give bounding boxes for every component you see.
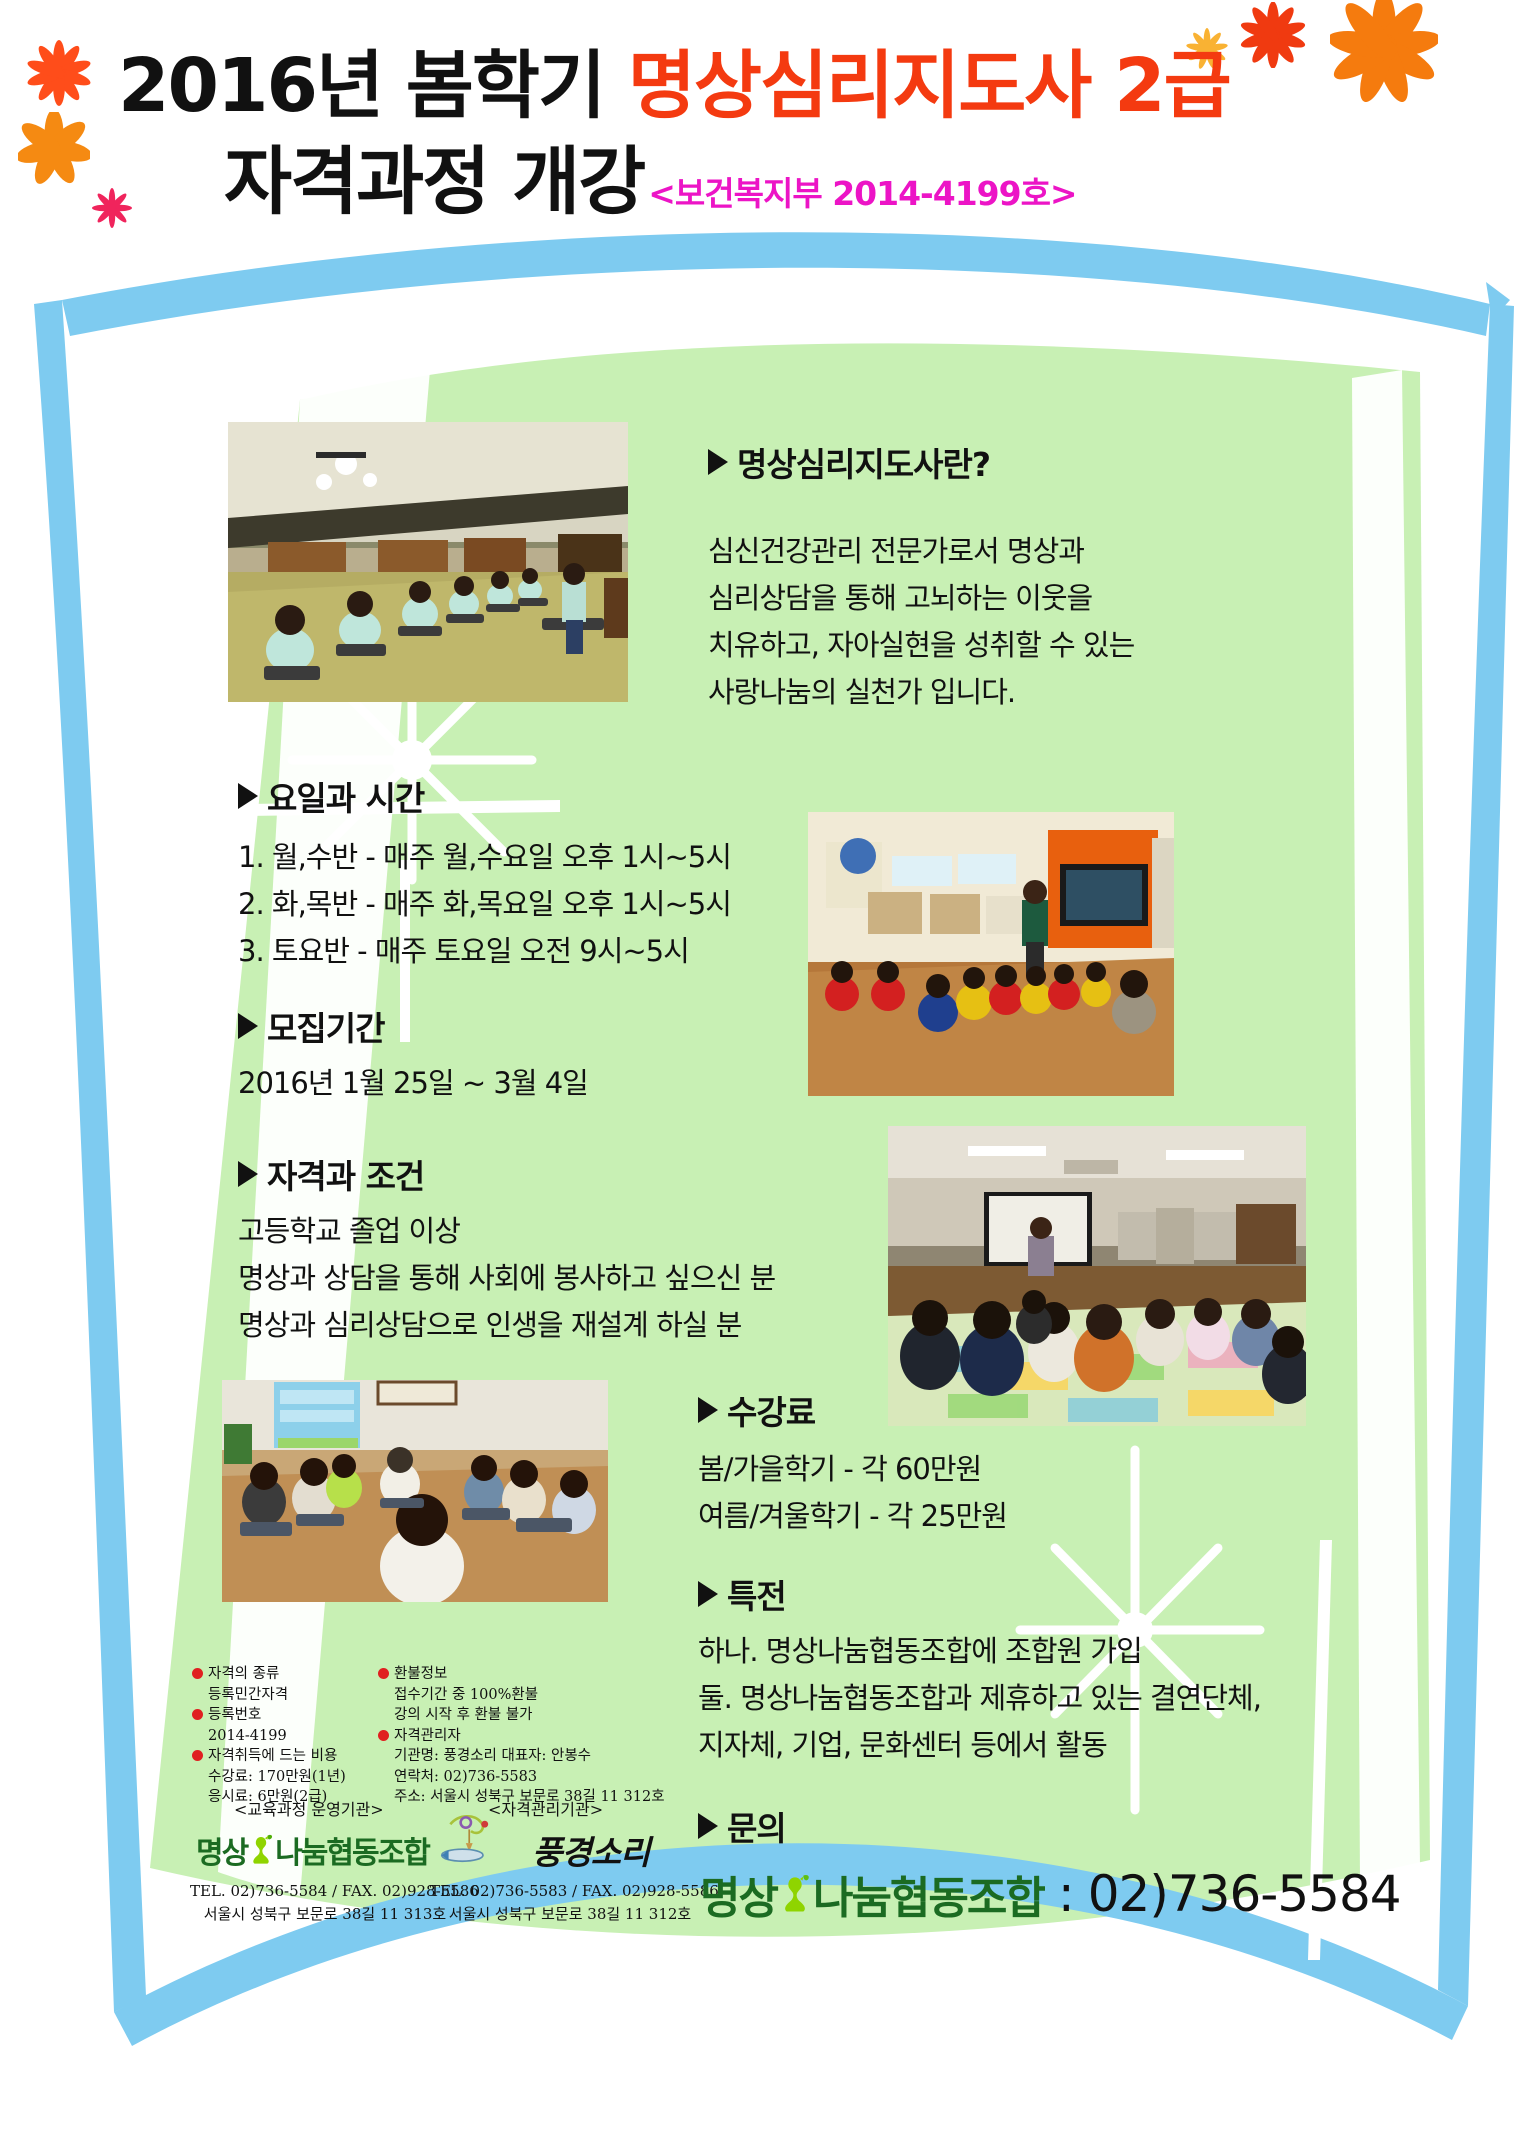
section-tuition: 수강료 봄/가을학기 - 각 60만원 여름/겨울학기 - 각 25만원 [698,1386,1007,1540]
triangle-bullet-icon [698,1397,718,1423]
fineprint-value: 강의 시작 후 환불 불가 [378,1705,678,1726]
title-line-2: 자격과정 개강<보건복지부 2014-4199호> [224,144,1518,222]
poster-root: 2016년 봄학기 명상심리지도사 2급 자격과정 개강<보건복지부 2014-… [0,0,1518,2135]
triangle-bullet-icon [238,1013,258,1039]
inquiry-org-part2: 나눔협동조합 [813,1862,1044,1926]
org-logo-meditation-coop: 명상 나눔협동조합 [196,1828,429,1872]
fineprint-label: 환불정보 [394,1666,447,1682]
section-requirements-line-1: 고등학교 졸업 이상 [238,1208,775,1255]
section-intro: 명상심리지도사란? 심신건강관리 전문가로서 명상과 심리상담을 통해 고뇌하는… [708,438,1134,716]
section-schedule-line-3: 3. 토요반 - 매주 토요일 오전 9시~5시 [238,928,731,975]
triangle-bullet-icon [698,1813,718,1839]
section-intro-line-3: 치유하고, 자아실현을 성취할 수 있는 [708,622,1134,669]
blue-swoosh-top [62,232,1490,336]
inquiry-separator: : [1058,1865,1074,1923]
bullet-dot-icon [192,1709,203,1720]
fineprint-item: 등록번호 2014-4199 [192,1705,392,1746]
title-line-1: 2016년 봄학기 명상심리지도사 2급 [118,48,1518,126]
org-logo-part1: 명상 [196,1828,247,1872]
section-recruit-heading-text: 모집기간 [267,1002,384,1050]
section-tuition-line-2: 여름/겨울학기 - 각 25만원 [698,1493,1007,1540]
photo-lecture-audience [888,1126,1306,1426]
section-requirements-line-3: 명상과 심리상담으로 인생을 재설계 하실 분 [238,1302,775,1349]
fineprint-value: 접수기간 중 100%환불 [378,1685,678,1706]
blue-swoosh-left [34,300,146,2012]
fineprint-value: 2014-4199 [192,1726,392,1747]
section-requirements-heading: 자격과 조건 [238,1150,775,1198]
section-schedule-heading-text: 요일과 시간 [267,772,424,820]
section-recruit-line-1: 2016년 1월 25일 ~ 3월 4일 [238,1060,588,1107]
fineprint-value: 연락처: 02)736-5583 [378,1767,678,1788]
section-requirements-heading-text: 자격과 조건 [267,1150,424,1198]
org-address: 서울시 성북구 보문로 38길 11 312호 [430,1903,710,1926]
section-tuition-heading: 수강료 [698,1386,1007,1434]
section-requirements-line-2: 명상과 상담을 통해 사회에 봉사하고 싶으신 분 [238,1255,775,1302]
fineprint-value: 등록민간자격 [192,1685,392,1706]
section-intro-line-2: 심리상담을 통해 고뇌하는 이웃을 [708,575,1134,622]
org-contact-operating: TEL. 02)736-5584 / FAX. 02)928-5586 서울시 … [190,1880,460,1925]
fineprint-label: 자격취득에 드는 비용 [208,1748,337,1764]
section-inquiry-heading-text: 문의 [727,1802,786,1850]
org-bracket-operating: <교육과정 운영기관> [234,1796,384,1820]
section-benefits-heading-text: 특전 [727,1570,786,1618]
org-address: 서울시 성북구 보문로 38길 11 313호 [190,1903,460,1926]
section-schedule-line-2: 2. 화,목반 - 매주 화,목요일 오후 1시~5시 [238,881,731,928]
fineprint-column-right: 환불정보 접수기간 중 100%환불 강의 시작 후 환불 불가 자격관리자 기… [378,1664,678,1808]
title-line1-prefix: 2016년 봄학기 [118,43,628,129]
fineprint-value: 기관명: 풍경소리 대표자: 안봉수 [378,1746,678,1767]
photo-group-circle [222,1380,608,1602]
org-logo-part2: 나눔협동조합 [275,1828,429,1872]
inquiry-contact-line: 명상 나눔협동조합 : 02)736-5584 [700,1862,1401,1926]
section-benefits: 특전 하나. 명상나눔협동조합에 조합원 가입 둘. 명상나눔협동조합과 제휴하… [698,1570,1261,1769]
fineprint-label: 자격관리자 [394,1728,461,1744]
section-intro-line-4: 사랑나눔의 실천가 입니다. [708,669,1134,716]
section-intro-heading: 명상심리지도사란? [708,438,1134,486]
title-line1-accent: 명상심리지도사 2급 [628,43,1230,129]
section-benefits-line-2: 둘. 명상나눔협동조합과 제휴하고 있는 결연단체, [698,1675,1261,1722]
section-benefits-heading: 특전 [698,1570,1261,1618]
bullet-dot-icon [378,1668,389,1679]
photo-children-meditation [808,812,1174,1096]
poster-title: 2016년 봄학기 명상심리지도사 2급 자격과정 개강<보건복지부 2014-… [0,48,1518,221]
meditating-person-icon [248,1834,274,1866]
fineprint-label: 자격의 종류 [208,1666,279,1682]
triangle-bullet-icon [238,1161,258,1187]
bullet-dot-icon [192,1668,203,1679]
section-schedule: 요일과 시간 1. 월,수반 - 매주 월,수요일 오후 1시~5시 2. 화,… [238,772,731,975]
fineprint-label: 등록번호 [208,1707,261,1723]
fineprint-column-left: 자격의 종류 등록민간자격 등록번호 2014-4199 자격취득에 드는 비용… [192,1664,392,1808]
meditating-person-icon [778,1874,812,1914]
triangle-bullet-icon [698,1581,718,1607]
blue-swoosh-right [1438,304,1514,2006]
section-inquiry: 문의 [698,1802,786,1850]
section-recruit: 모집기간 2016년 1월 25일 ~ 3월 4일 [238,1002,588,1107]
section-schedule-line-1: 1. 월,수반 - 매주 월,수요일 오후 1시~5시 [238,834,731,881]
triangle-bullet-icon [238,783,258,809]
org-logo-pungyeongsori-mark [440,1812,526,1868]
blue-swoosh-tip [1486,282,1510,320]
section-schedule-heading: 요일과 시간 [238,772,731,820]
section-tuition-heading-text: 수강료 [727,1386,815,1434]
org-logo-pungyeongsori-text: 풍경소리 [532,1826,649,1874]
photo-adult-meditation-hall [228,422,628,702]
section-inquiry-heading: 문의 [698,1802,786,1850]
section-requirements: 자격과 조건 고등학교 졸업 이상 명상과 상담을 통해 사회에 봉사하고 싶으… [238,1150,775,1349]
org-telfax: TEL. 02)736-5583 / FAX. 02)928-5586 [430,1880,710,1903]
section-benefits-line-1: 하나. 명상나눔협동조합에 조합원 가입 [698,1628,1261,1675]
section-tuition-line-1: 봄/가을학기 - 각 60만원 [698,1446,1007,1493]
section-intro-heading-text: 명상심리지도사란? [737,438,990,486]
bullet-dot-icon [192,1750,203,1761]
title-line2-main: 자격과정 개강 [224,144,644,222]
inquiry-org-logo: 명상 나눔협동조합 [700,1862,1044,1926]
fineprint-item: 자격의 종류 등록민간자격 [192,1664,392,1705]
inquiry-org-part1: 명상 [700,1862,777,1926]
inquiry-phone[interactable]: 02)736-5584 [1088,1865,1401,1923]
section-benefits-line-3: 지자체, 기업, 문화센터 등에서 활동 [698,1722,1261,1769]
title-subnote: <보건복지부 2014-4199호> [648,177,1076,222]
section-recruit-heading: 모집기간 [238,1002,588,1050]
bullet-dot-icon [378,1730,389,1741]
section-intro-line-1: 심신건강관리 전문가로서 명상과 [708,528,1134,575]
fineprint-item: 환불정보 접수기간 중 100%환불 강의 시작 후 환불 불가 [378,1664,678,1726]
org-contact-certifying: TEL. 02)736-5583 / FAX. 02)928-5586 서울시 … [430,1880,710,1925]
fineprint-value: 수강료: 170만원(1년) [192,1767,392,1788]
triangle-bullet-icon [708,449,728,475]
org-telfax: TEL. 02)736-5584 / FAX. 02)928-5586 [190,1880,460,1903]
green-panel-seam-right [1352,370,1420,1886]
